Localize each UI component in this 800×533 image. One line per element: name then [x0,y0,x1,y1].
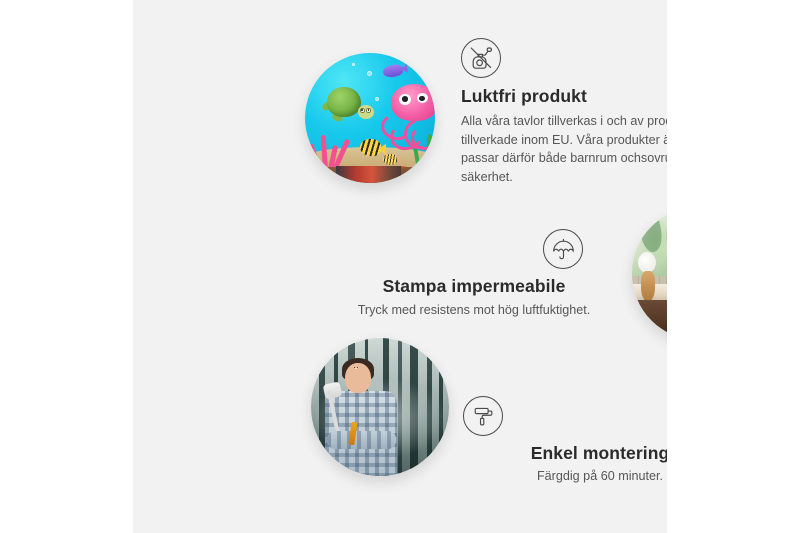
no-odour-spray-bottle-icon [461,38,501,78]
feature-description: Alla våra tavlor tillverkas i och av pro… [461,112,667,186]
forest-painter-illustration [311,338,449,476]
painter-woman [322,363,408,476]
underwater-illustration [305,53,435,183]
paint-roller-icon [463,396,503,436]
feature-description: Tryck med resistens mot hög luftfuktighe… [338,301,610,320]
content-panel: Luktfri produkt Alla våra tavlor tillver… [133,0,667,533]
octopus-icon [388,84,435,144]
screenshot-root: Luktfri produkt Alla våra tavlor tillver… [0,0,800,533]
icon-wrapper [338,229,610,269]
vanity-cabinet [632,300,667,340]
feature-stampa-impermeabile: Stampa impermeabile Tryck med resistens … [338,229,610,320]
feature-luktfri-produkt: Luktfri produkt Alla våra tavlor tillver… [461,38,667,186]
small-fish-icon [383,154,397,164]
feature-title: Enkel montering [455,443,667,464]
sea-turtle-icon [325,87,372,122]
photo-painter-in-forest[interactable] [311,338,449,476]
icon-wrapper [455,396,667,436]
umbrella-icon [543,229,583,269]
photo-bathroom-leaf-wallpaper[interactable] [632,207,667,340]
feature-title: Luktfri produkt [461,86,667,107]
foreground-strip [336,166,401,183]
flower-vase [635,252,664,300]
bathroom-illustration [632,207,667,340]
feature-description: Färgdig på 60 minuter. [455,467,667,486]
photo-underwater-kids-scene[interactable] [305,53,435,183]
feature-enkel-montering: Enkel montering Färgdig på 60 minuter. [455,396,667,486]
feature-title: Stampa impermeabile [338,276,610,297]
